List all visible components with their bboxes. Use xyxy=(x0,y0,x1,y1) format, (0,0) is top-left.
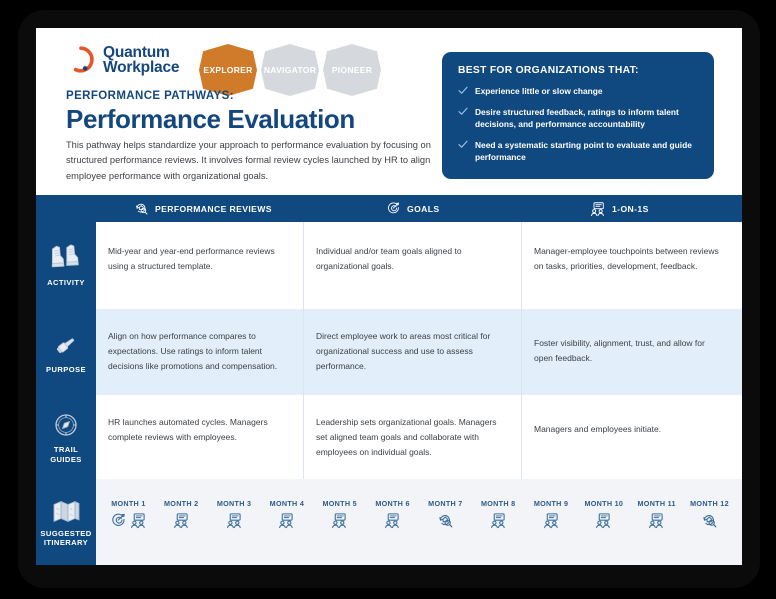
one-on-one-icon xyxy=(590,201,606,217)
month-item[interactable]: MONTH 6 xyxy=(366,499,419,565)
tier-badges: EXPLORER NAVIGATOR PIONEER xyxy=(199,44,381,96)
screenshot-root: Quantum Workplace EXPLORER NAVIGATOR PIO… xyxy=(0,0,776,599)
badge-navigator[interactable]: NAVIGATOR xyxy=(261,44,319,96)
flashlight-icon xyxy=(51,330,81,360)
month-icons xyxy=(648,512,665,529)
cell-purpose-one-on-ones: Foster visibility, alignment, trust, and… xyxy=(522,309,742,395)
table-row-purpose: PURPOSE Align on how performance compare… xyxy=(36,309,742,395)
month-label: MONTH 8 xyxy=(481,499,515,508)
month-icons xyxy=(701,512,718,529)
month-strip: MONTH 1 xyxy=(96,479,742,565)
column-header-goals: GOALS xyxy=(344,201,536,216)
best-for-item-text: Desire structured feedback, ratings to i… xyxy=(475,106,698,131)
row-cells: Mid-year and year-end performance review… xyxy=(96,222,742,309)
row-label-text: TRAIL GUIDES xyxy=(38,445,94,464)
month-item[interactable]: MONTH 1 xyxy=(102,499,155,565)
pathway-table: PERFORMANCE REVIEWS GOALS xyxy=(36,195,742,565)
table-row-suggested-itinerary: SUGGESTED ITINERARY MONTH 1 xyxy=(36,479,742,565)
one-on-one-icon xyxy=(226,512,243,529)
badge-explorer[interactable]: EXPLORER xyxy=(199,44,257,96)
month-icons xyxy=(543,512,560,529)
table-row-activity: ACTIVITY Mid-year and year-end performan… xyxy=(36,222,742,309)
check-icon xyxy=(458,139,468,164)
month-item[interactable]: MONTH 2 xyxy=(155,499,208,565)
cell-purpose-performance-reviews: Align on how performance compares to exp… xyxy=(96,309,304,395)
row-label-suggested-itinerary: SUGGESTED ITINERARY xyxy=(36,479,96,565)
month-icons xyxy=(490,512,507,529)
row-cells: HR launches automated cycles. Managers c… xyxy=(96,395,742,479)
row-cells: Align on how performance compares to exp… xyxy=(96,309,742,395)
best-for-heading: BEST FOR ORGANIZATIONS THAT: xyxy=(458,65,698,76)
table-column-headers: PERFORMANCE REVIEWS GOALS xyxy=(36,195,742,222)
cell-activity-goals: Individual and/or team goals aligned to … xyxy=(304,222,522,309)
month-icons xyxy=(331,512,348,529)
one-on-one-icon xyxy=(331,512,348,529)
page-title: Performance Evaluation xyxy=(66,104,355,135)
best-for-panel: BEST FOR ORGANIZATIONS THAT: Experience … xyxy=(442,52,714,179)
one-on-one-icon xyxy=(595,512,612,529)
table-row-trail-guides: TRAIL GUIDES HR launches automated cycle… xyxy=(36,395,742,479)
one-on-one-icon xyxy=(130,512,147,529)
month-label: MONTH 4 xyxy=(270,499,304,508)
month-label: MONTH 2 xyxy=(164,499,198,508)
month-label: MONTH 5 xyxy=(323,499,357,508)
brand-logo-text: Quantum Workplace xyxy=(103,45,179,75)
best-for-item-text: Experience little or slow change xyxy=(475,85,603,98)
month-icons xyxy=(437,512,454,529)
column-header-performance-reviews: PERFORMANCE REVIEWS xyxy=(96,201,344,216)
month-item[interactable]: MONTH 5 xyxy=(313,499,366,565)
cell-trail-guides-performance-reviews: HR launches automated cycles. Managers c… xyxy=(96,395,304,479)
performance-review-icon xyxy=(701,512,718,529)
badge-explorer-label: EXPLORER xyxy=(203,65,252,75)
performance-review-icon xyxy=(437,512,454,529)
month-label: MONTH 9 xyxy=(534,499,568,508)
month-item[interactable]: MONTH 11 xyxy=(630,499,683,565)
row-cells: MONTH 1 xyxy=(96,479,742,565)
month-item[interactable]: MONTH 9 xyxy=(525,499,578,565)
best-for-item: Desire structured feedback, ratings to i… xyxy=(458,106,698,131)
cell-trail-guides-goals: Leadership sets organizational goals. Ma… xyxy=(304,395,522,479)
one-on-one-icon xyxy=(648,512,665,529)
best-for-item-text: Need a systematic starting point to eval… xyxy=(475,139,698,164)
best-for-item: Experience little or slow change xyxy=(458,85,698,98)
cell-activity-one-on-ones: Manager-employee touchpoints between rev… xyxy=(522,222,742,309)
month-icons xyxy=(173,512,190,529)
brand-logo: Quantum Workplace xyxy=(66,45,179,75)
row-label-text: PURPOSE xyxy=(46,365,86,374)
column-header-one-on-ones: 1-ON-1S xyxy=(536,201,742,217)
brand-logo-line2: Workplace xyxy=(103,60,179,75)
month-label: MONTH 3 xyxy=(217,499,251,508)
badge-pioneer-label: PIONEER xyxy=(332,65,372,75)
month-label: MONTH 1 xyxy=(111,499,145,508)
column-header-label: 1-ON-1S xyxy=(612,204,649,214)
month-icons xyxy=(384,512,401,529)
month-icons xyxy=(226,512,243,529)
month-icons xyxy=(595,512,612,529)
month-item[interactable]: MONTH 3 xyxy=(208,499,261,565)
one-on-one-icon xyxy=(173,512,190,529)
brand-logo-line1: Quantum xyxy=(103,45,179,60)
compass-icon xyxy=(51,410,81,440)
one-on-one-icon xyxy=(278,512,295,529)
best-for-item: Need a systematic starting point to eval… xyxy=(458,139,698,164)
month-item[interactable]: MONTH 10 xyxy=(577,499,630,565)
cell-purpose-goals: Direct employee work to areas most criti… xyxy=(304,309,522,395)
pathway-card: Quantum Workplace EXPLORER NAVIGATOR PIO… xyxy=(36,28,742,565)
month-item[interactable]: MONTH 4 xyxy=(260,499,313,565)
month-label: MONTH 7 xyxy=(428,499,462,508)
row-label-text: ACTIVITY xyxy=(47,278,85,287)
check-icon xyxy=(458,85,468,98)
page-eyebrow: PERFORMANCE PATHWAYS: xyxy=(66,90,234,102)
badge-pioneer[interactable]: PIONEER xyxy=(323,44,381,96)
month-icons xyxy=(278,512,295,529)
page-intro-text: This pathway helps standardize your appr… xyxy=(66,138,441,184)
column-header-label: PERFORMANCE REVIEWS xyxy=(155,204,272,214)
performance-review-icon xyxy=(134,201,149,216)
badge-navigator-label: NAVIGATOR xyxy=(264,65,316,75)
row-label-purpose: PURPOSE xyxy=(36,309,96,395)
month-item[interactable]: MONTH 8 xyxy=(472,499,525,565)
goal-target-icon xyxy=(386,201,401,216)
month-icons xyxy=(110,512,147,529)
row-label-text: SUGGESTED ITINERARY xyxy=(38,529,94,548)
month-label: MONTH 6 xyxy=(375,499,409,508)
quantum-q-logo-icon xyxy=(66,45,96,75)
one-on-one-icon xyxy=(384,512,401,529)
one-on-one-icon xyxy=(490,512,507,529)
column-header-label: GOALS xyxy=(407,204,440,214)
row-label-activity: ACTIVITY xyxy=(36,222,96,309)
cell-activity-performance-reviews: Mid-year and year-end performance review… xyxy=(96,222,304,309)
month-label: MONTH 12 xyxy=(690,499,729,508)
goal-target-icon xyxy=(110,512,127,529)
row-label-trail-guides: TRAIL GUIDES xyxy=(36,395,96,479)
hiking-boots-icon xyxy=(49,243,83,273)
month-item[interactable]: MONTH 7 xyxy=(419,499,472,565)
check-icon xyxy=(458,106,468,131)
month-label: MONTH 11 xyxy=(638,499,676,508)
month-label: MONTH 10 xyxy=(584,499,623,508)
one-on-one-icon xyxy=(543,512,560,529)
map-icon xyxy=(51,498,81,524)
month-item[interactable]: MONTH 12 xyxy=(683,499,736,565)
hero-section: Quantum Workplace EXPLORER NAVIGATOR PIO… xyxy=(36,28,742,195)
cell-trail-guides-one-on-ones: Managers and employees initiate. xyxy=(522,395,742,479)
